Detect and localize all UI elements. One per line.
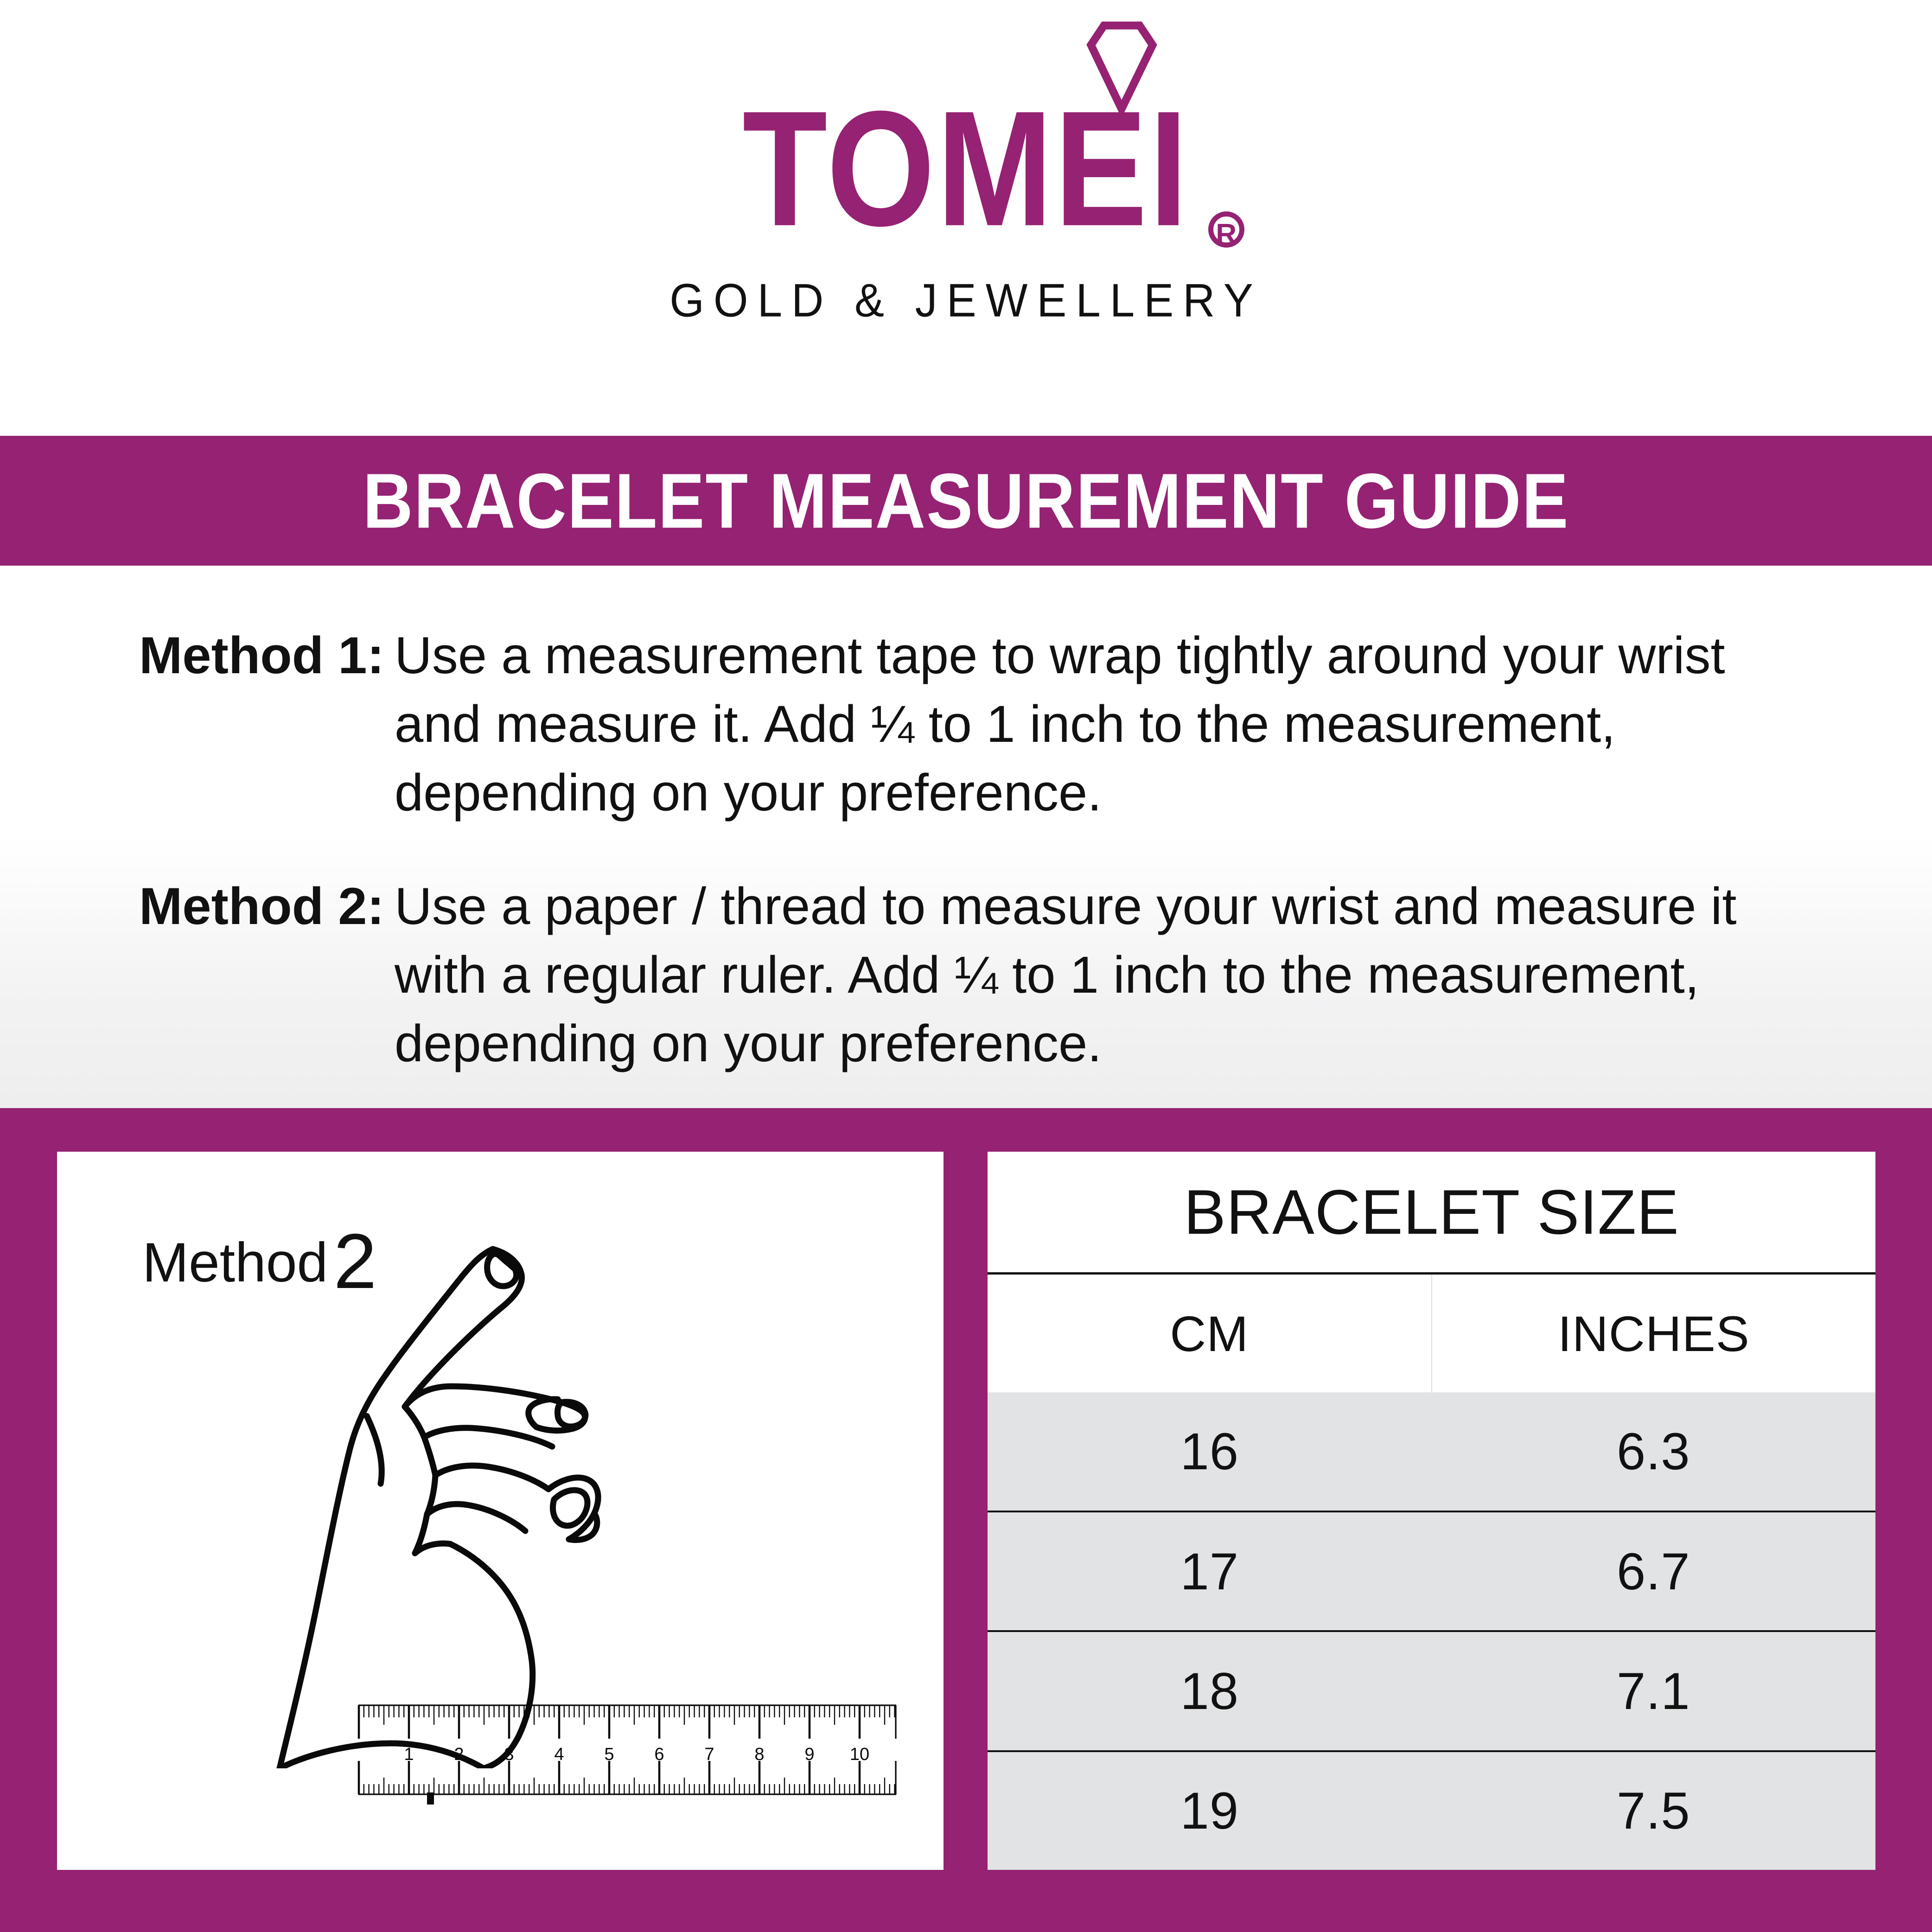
brand-tagline: GOLD & JEWELLERY: [0, 274, 1932, 328]
ruler-icon: 12345678910: [354, 1694, 901, 1805]
method-2-block: Method 2: Use a paper / thread to measur…: [139, 872, 1793, 1078]
ruler-label: 9: [804, 1745, 814, 1764]
ruler-label: 3: [504, 1745, 514, 1764]
ruler-label: 4: [554, 1745, 564, 1764]
ruler-label: 8: [754, 1745, 764, 1764]
cell-inches: 7.1: [1432, 1632, 1876, 1750]
size-table-grid: CM INCHES 16 6.3 17 6.7 18 7.1 19 7.5: [988, 1275, 1875, 1870]
method-1-text: Use a measurement tape to wrap tightly a…: [395, 621, 1793, 827]
cell-cm: 19: [988, 1752, 1432, 1870]
table-row: 16 6.3: [988, 1392, 1875, 1512]
cell-cm: 18: [988, 1632, 1432, 1750]
bottom-purple-panel: Method2: [0, 1108, 1932, 1932]
ruler-label: 7: [704, 1745, 714, 1764]
bracelet-size-table-card: BRACELET SIZE CM INCHES 16 6.3 17 6.7 18…: [988, 1152, 1875, 1870]
cell-cm: 16: [988, 1392, 1432, 1510]
logo-header: TOMEI R GOLD & JEWELLERY: [0, 0, 1932, 436]
table-row: 17 6.7: [988, 1512, 1875, 1632]
size-table-title: BRACELET SIZE: [988, 1152, 1875, 1275]
table-row: 19 7.5: [988, 1752, 1875, 1870]
method-1-block: Method 1: Use a measurement tape to wrap…: [139, 621, 1793, 827]
diamond-gem-icon: [1084, 21, 1160, 114]
cell-inches: 7.5: [1432, 1752, 1876, 1870]
methods-section: Method 1: Use a measurement tape to wrap…: [0, 566, 1932, 1108]
page-title-banner: BRACELET MEASUREMENT GUIDE: [0, 436, 1932, 566]
cell-cm: 17: [988, 1512, 1432, 1630]
table-row: 18 7.1: [988, 1632, 1875, 1752]
method-2-label: Method 2:: [139, 872, 395, 941]
ruler-label: 10: [850, 1745, 869, 1764]
column-header-cm: CM: [988, 1275, 1432, 1392]
column-header-inches: INCHES: [1432, 1275, 1876, 1392]
ruler-label: 2: [454, 1745, 464, 1764]
table-header-row: CM INCHES: [988, 1275, 1875, 1392]
method-1-label: Method 1:: [139, 621, 395, 690]
cell-inches: 6.7: [1432, 1512, 1876, 1630]
method-2-text: Use a paper / thread to measure your wri…: [395, 872, 1793, 1078]
illustration-card: Method2: [57, 1152, 944, 1870]
brand-lockup: TOMEI R: [742, 111, 1190, 250]
cell-inches: 6.3: [1432, 1392, 1876, 1510]
hand-line-art-icon: [252, 1221, 669, 1768]
page-title: BRACELET MEASUREMENT GUIDE: [363, 456, 1569, 546]
ruler-label: 5: [604, 1745, 614, 1764]
ruler-label: 1: [404, 1745, 414, 1764]
logo-wrap: TOMEI R GOLD & JEWELLERY: [0, 0, 1932, 326]
registered-trademark-icon: R: [1208, 211, 1244, 248]
ruler-label: 6: [654, 1745, 664, 1764]
